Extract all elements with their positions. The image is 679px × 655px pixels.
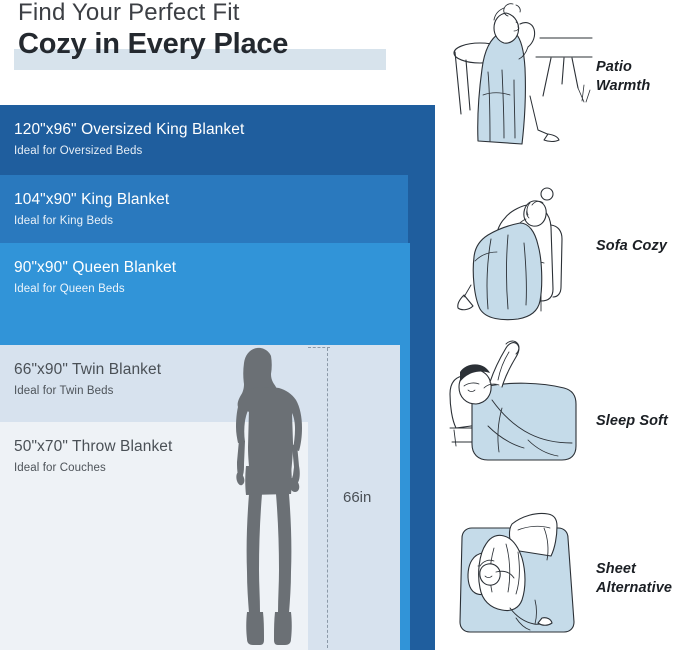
use-case-caption: Sheet Alternative (596, 560, 672, 597)
use-case-sleep-soft: Sleep Soft (440, 330, 679, 500)
size-title: 120"x96" Oversized King Blanket (14, 121, 244, 139)
size-title: 50"x70" Throw Blanket (14, 438, 172, 456)
use-case-sheet-alternative: Sheet Alternative (440, 500, 679, 650)
use-case-caption: Sleep Soft (596, 412, 668, 431)
use-case-patio-warmth: Patio Warmth (440, 0, 679, 165)
use-case-column: Patio Warmth (440, 0, 679, 650)
infographic-root: Find Your Perfect Fit Cozy in Every Plac… (0, 0, 679, 650)
size-title: 90"x90" Queen Blanket (14, 259, 176, 277)
caption-line-1: Patio (596, 58, 650, 77)
height-guide-line (327, 348, 328, 648)
size-subtitle: Ideal for Twin Beds (14, 385, 114, 397)
height-measurement-label: 66in (343, 489, 371, 506)
person-seated-patio-blanket-icon (444, 0, 594, 165)
blanket-size-chart: 120"x96" Oversized King Blanket Ideal fo… (0, 0, 440, 650)
size-subtitle: Ideal for Queen Beds (14, 283, 125, 295)
size-title: 104"x90" King Blanket (14, 191, 169, 209)
use-case-caption: Patio Warmth (596, 58, 650, 95)
use-case-sofa-cozy: Sofa Cozy (440, 165, 679, 330)
caption-line-1: Sleep Soft (596, 412, 668, 431)
person-in-bed-blanket-icon (444, 330, 594, 500)
person-armchair-blanket-icon (444, 165, 594, 330)
use-case-caption: Sofa Cozy (596, 237, 667, 256)
caption-line-1: Sheet (596, 560, 672, 579)
human-silhouette-icon (226, 344, 312, 650)
size-title: 66"x90" Twin Blanket (14, 361, 161, 379)
caption-line-2: Alternative (596, 579, 672, 598)
size-subtitle: Ideal for King Beds (14, 215, 113, 227)
caption-line-1: Sofa Cozy (596, 237, 667, 256)
person-on-mattress-sheet-icon (444, 500, 594, 650)
size-subtitle: Ideal for Oversized Beds (14, 145, 142, 157)
caption-line-2: Warmth (596, 77, 650, 96)
size-subtitle: Ideal for Couches (14, 462, 106, 474)
